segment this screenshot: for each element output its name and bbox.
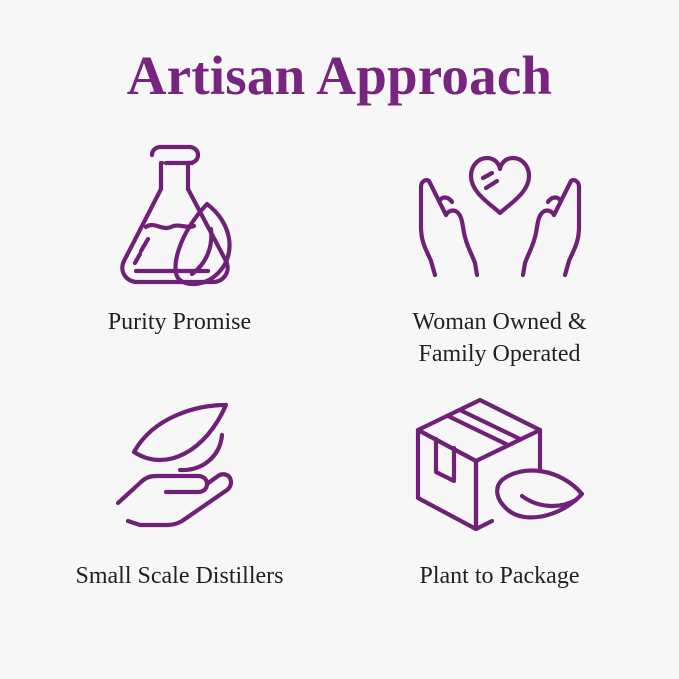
feature-item-woman-owned: Woman Owned & Family Operated	[340, 141, 660, 389]
flask-leaf-icon	[110, 141, 250, 291]
feature-label: Purity Promise	[108, 307, 251, 339]
hands-heart-icon	[415, 141, 585, 291]
feature-item-purity-promise: Purity Promise	[20, 141, 340, 389]
feature-grid: Purity Promise	[20, 141, 660, 637]
box-leaf-icon	[410, 389, 590, 539]
artisan-approach-panel: Artisan Approach	[0, 0, 679, 679]
feature-item-small-scale-distillers: Small Scale Distillers	[20, 389, 340, 637]
feature-label: Small Scale Distillers	[76, 561, 284, 593]
feature-item-plant-to-package: Plant to Package	[340, 389, 660, 637]
feature-label: Plant to Package	[420, 561, 580, 593]
leaf-hand-icon	[110, 389, 250, 539]
page-title: Artisan Approach	[127, 47, 552, 105]
feature-label: Woman Owned & Family Operated	[412, 307, 586, 371]
